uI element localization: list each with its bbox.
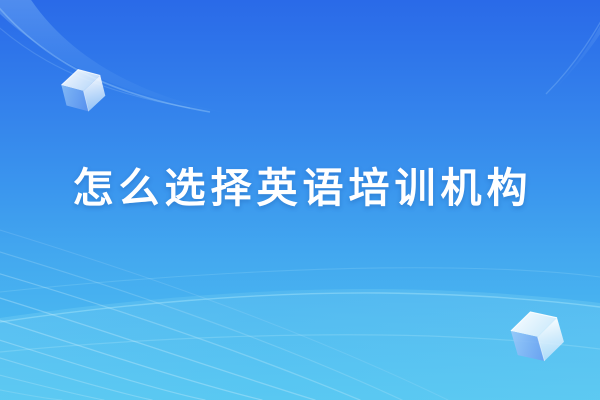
- banner-image: 怎么选择英语培训机构: [0, 0, 600, 400]
- top-left-arc: [0, 0, 260, 118]
- bottom-wave-band: [0, 268, 600, 400]
- bottom-left-line-fan: [0, 224, 448, 400]
- banner-title: 怎么选择英语培训机构: [0, 163, 600, 213]
- top-right-arc: [546, 0, 600, 96]
